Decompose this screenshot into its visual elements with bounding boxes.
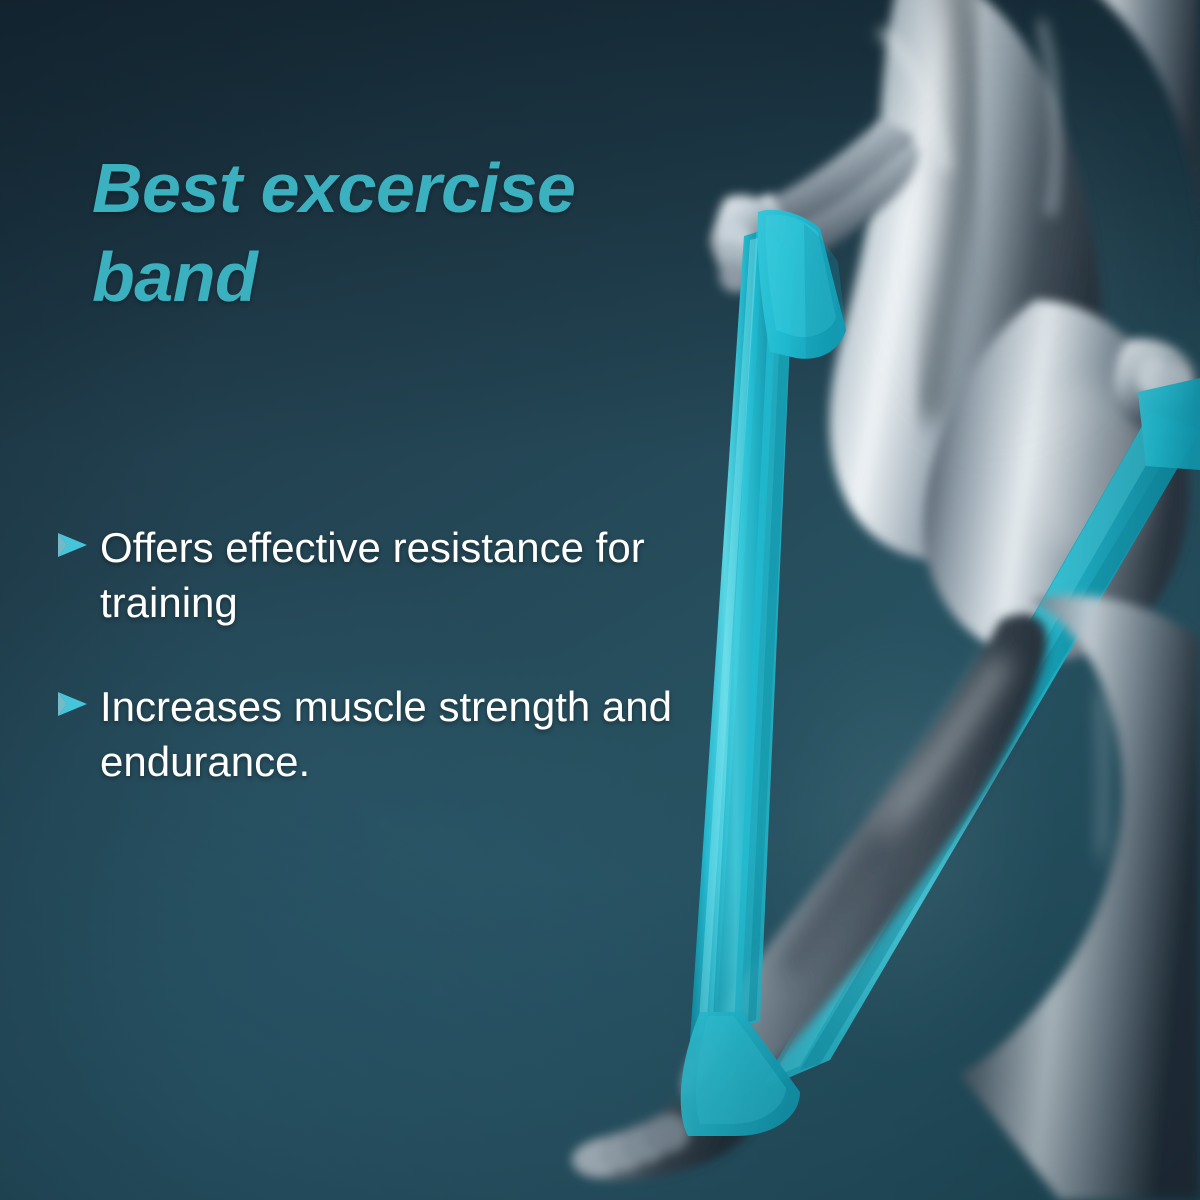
list-item-label: Offers effective resistance for training: [100, 520, 696, 631]
list-item: Offers effective resistance for training: [56, 520, 696, 631]
text-layer: Best excercise band Offers effective res…: [0, 0, 1200, 1200]
arrow-bullet-icon: [56, 679, 100, 719]
benefits-list: Offers effective resistance for training…: [56, 520, 696, 790]
list-item-label: Increases muscle strength and endurance.: [100, 679, 696, 790]
exercise-band-poster: Best excercise band Offers effective res…: [0, 0, 1200, 1200]
page-title: Best excercise band: [92, 144, 692, 322]
arrow-bullet-icon: [56, 520, 100, 560]
list-item: Increases muscle strength and endurance.: [56, 679, 696, 790]
